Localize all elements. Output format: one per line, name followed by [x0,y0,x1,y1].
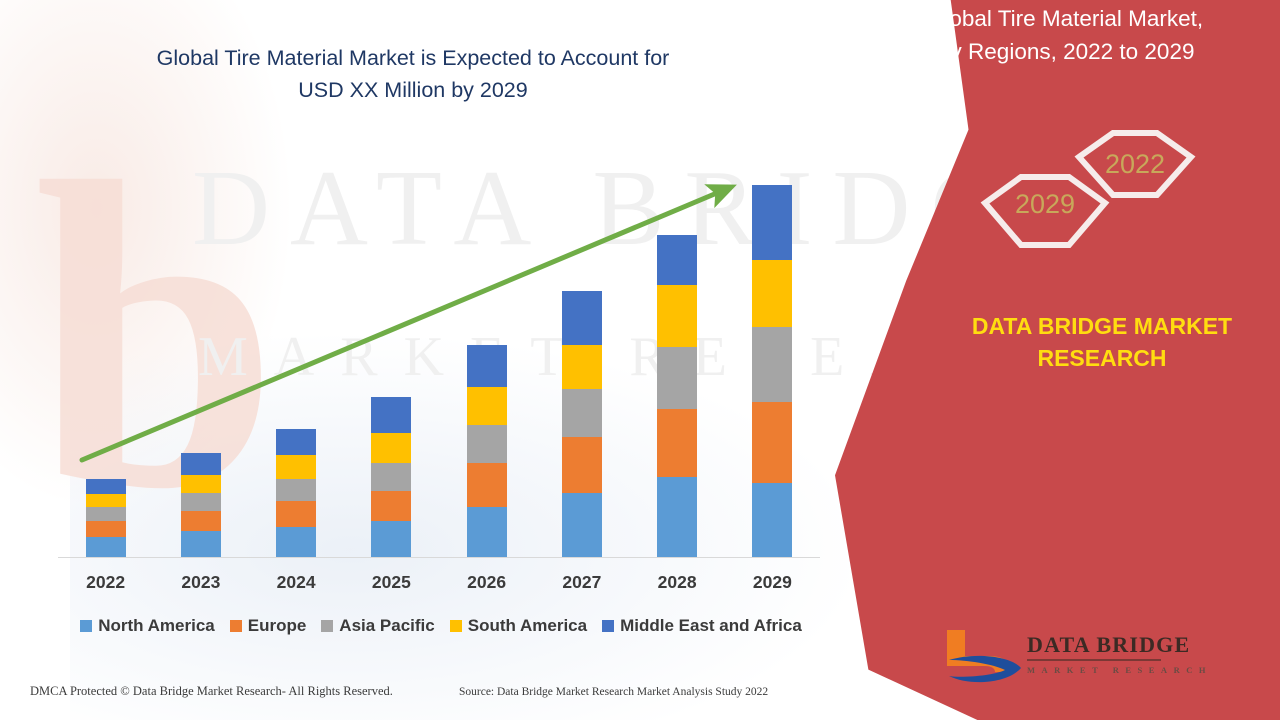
legend-swatch-icon [602,620,614,632]
bar-slot-2023 [153,170,248,557]
logo-sub-text: MARKET RESEARCH [1027,665,1212,675]
logo-main-text: DATA BRIDGE [1027,632,1212,658]
bar-segment[interactable] [657,409,697,477]
x-axis-label-2022: 2022 [58,572,153,593]
data-bridge-logo: DATA BRIDGE MARKET RESEARCH [935,626,1160,688]
brand-line-2: RESEARCH [952,342,1252,374]
bar-segment[interactable] [86,537,126,557]
bar-segment[interactable] [276,479,316,501]
bar-segment[interactable] [657,235,697,285]
right-panel-brand: DATA BRIDGE MARKET RESEARCH [952,310,1252,374]
bar-segment[interactable] [467,425,507,463]
bar-segment[interactable] [562,291,602,345]
legend-label: Europe [248,616,307,636]
x-axis-labels: 20222023202420252026202720282029 [58,572,820,593]
bar-segment[interactable] [562,345,602,389]
stacked-bar[interactable] [467,345,507,557]
bar-slot-2027 [534,170,629,557]
legend-swatch-icon [80,620,92,632]
bar-segment[interactable] [752,402,792,483]
stacked-bar[interactable] [752,185,792,557]
x-axis-label-2029: 2029 [725,572,820,593]
logo-divider [1027,659,1161,661]
right-panel-title-line-1: Global Tire Material Market, [850,2,1280,35]
bar-segment[interactable] [276,527,316,557]
legend-swatch-icon [321,620,333,632]
legend-item[interactable]: Asia Pacific [321,616,434,636]
x-axis-label-2023: 2023 [153,572,248,593]
bar-segment[interactable] [752,185,792,260]
legend-label: South America [468,616,587,636]
bar-segment[interactable] [371,521,411,557]
bar-slot-2029 [725,170,820,557]
legend-label: Middle East and Africa [620,616,802,636]
legend-item[interactable]: Middle East and Africa [602,616,802,636]
stacked-bar[interactable] [181,453,221,557]
bar-segment[interactable] [371,463,411,491]
bar-segment[interactable] [276,501,316,527]
bar-segment[interactable] [467,463,507,507]
right-panel-title-line-2: By Regions, 2022 to 2029 [850,35,1280,68]
hexagon-badges: 2029 2022 [965,125,1235,295]
footer-source: Source: Data Bridge Market Research Mark… [459,686,768,698]
bar-segment[interactable] [562,493,602,557]
bar-segment[interactable] [371,491,411,521]
bar-segment[interactable] [276,429,316,455]
bar-segment[interactable] [467,387,507,425]
chart-plot-area [58,170,820,558]
bar-segment[interactable] [467,507,507,557]
bar-segment[interactable] [181,493,221,511]
bar-segment[interactable] [181,453,221,475]
slide-canvas: b DATA BRIDGE MARKET RESEARCH Global Tir… [0,0,1280,720]
legend-label: Asia Pacific [339,616,434,636]
legend-item[interactable]: Europe [230,616,307,636]
bar-segment[interactable] [181,475,221,493]
stacked-bar[interactable] [562,291,602,557]
footer-copyright: DMCA Protected © Data Bridge Market Rese… [30,684,393,699]
x-axis-label-2027: 2027 [534,572,629,593]
right-panel-title: Global Tire Material Market, By Regions,… [850,2,1280,68]
bar-segment[interactable] [181,531,221,557]
bar-segment[interactable] [657,347,697,409]
bar-slot-2026 [439,170,534,557]
x-axis-label-2026: 2026 [439,572,534,593]
stacked-bar[interactable] [86,479,126,557]
hexagon-2029-label: 2029 [1015,189,1075,219]
chart-title-line-2: USD XX Million by 2029 [60,74,766,106]
logo-mark-icon [935,626,1027,688]
legend-item[interactable]: South America [450,616,587,636]
bar-segment[interactable] [657,285,697,347]
bar-segment[interactable] [752,260,792,327]
legend-item[interactable]: North America [80,616,215,636]
brand-line-1: DATA BRIDGE MARKET [952,310,1252,342]
chart-title: Global Tire Material Market is Expected … [60,42,766,106]
chart-title-line-1: Global Tire Material Market is Expected … [60,42,766,74]
x-axis-label-2028: 2028 [630,572,725,593]
bar-segment[interactable] [752,327,792,402]
bar-segment[interactable] [181,511,221,531]
bar-segment[interactable] [562,389,602,437]
legend-swatch-icon [450,620,462,632]
bar-segment[interactable] [276,455,316,479]
legend-label: North America [98,616,215,636]
bar-segment[interactable] [371,397,411,433]
bar-group [58,170,820,557]
stacked-bar[interactable] [276,429,316,557]
bar-slot-2025 [344,170,439,557]
hexagon-2022-label: 2022 [1105,149,1165,179]
chart-legend: North AmericaEuropeAsia PacificSouth Ame… [46,616,836,636]
bar-segment[interactable] [86,479,126,494]
logo-wordmark: DATA BRIDGE MARKET RESEARCH [1027,632,1212,675]
bar-slot-2024 [249,170,344,557]
bar-segment[interactable] [86,507,126,521]
bar-segment[interactable] [467,345,507,387]
x-axis-line [58,557,820,558]
bar-segment[interactable] [86,494,126,507]
bar-segment[interactable] [657,477,697,557]
x-axis-label-2025: 2025 [344,572,439,593]
bar-segment[interactable] [371,433,411,463]
bar-slot-2022 [58,170,153,557]
bar-segment[interactable] [86,521,126,537]
legend-swatch-icon [230,620,242,632]
x-axis-label-2024: 2024 [249,572,344,593]
bar-slot-2028 [630,170,725,557]
bar-segment[interactable] [562,437,602,493]
stacked-bar[interactable] [371,397,411,557]
bar-segment[interactable] [752,483,792,557]
stacked-bar[interactable] [657,235,697,557]
